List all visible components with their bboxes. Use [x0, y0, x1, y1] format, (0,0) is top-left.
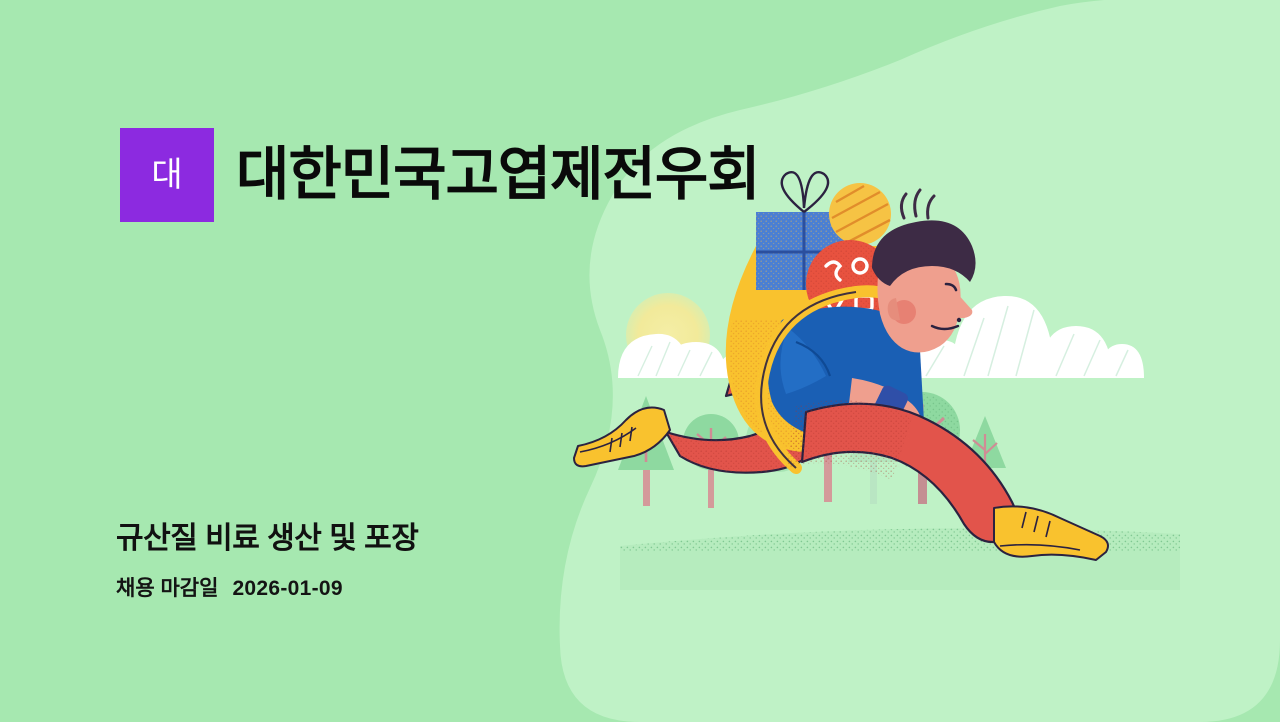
job-info-block: 규산질 비료 생산 및 포장 채용 마감일 2026-01-09	[116, 520, 418, 602]
company-header: 대 대한민국고엽제전우회	[120, 128, 760, 222]
deadline-date: 2026-01-09	[232, 577, 342, 601]
deadline-label: 채용 마감일	[116, 572, 218, 602]
ornament-ball-yellow	[829, 183, 891, 245]
company-initial-text: 대	[151, 158, 182, 192]
company-initial-badge: 대	[120, 128, 214, 222]
company-name: 대한민국고엽제전우회	[236, 145, 760, 206]
job-title: 규산질 비료 생산 및 포장	[116, 520, 418, 558]
application-deadline: 채용 마감일 2026-01-09	[116, 572, 418, 602]
job-posting-card: 대 대한민국고엽제전우회 규산질 비료 생산 및 포장 채용 마감일 2026-…	[0, 0, 1280, 722]
